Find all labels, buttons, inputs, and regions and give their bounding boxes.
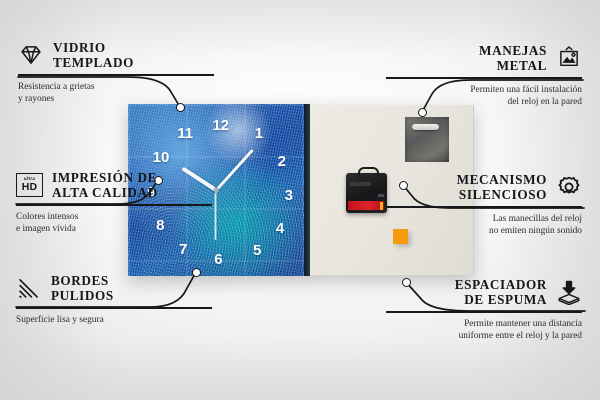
feature-divider [386, 311, 582, 313]
clock-numeral-12: 12 [212, 118, 229, 133]
feature-title: BORDES PULIDOS [51, 273, 114, 303]
feature-espaciador-de-espuma: ESPACIADOR DE ESPUMA Permite mantener un… [386, 277, 582, 342]
diamond-icon [18, 42, 44, 68]
feature-desc-line1: Resistencia a grietas [18, 81, 214, 93]
ultra-hd-icon-main-text: HD [22, 182, 38, 193]
picture-hanger-icon [556, 45, 582, 71]
feature-header: ultra HD IMPRESIÓN DE ALTA CALIDAD [16, 170, 212, 200]
feature-desc-line2: no emiten ningún sonido [386, 225, 582, 237]
feature-divider [386, 206, 582, 208]
clock-numeral-10: 10 [153, 150, 170, 165]
feature-desc-line2: y rayones [18, 93, 214, 105]
feature-header: VIDRIO TEMPLADO [18, 40, 214, 70]
feature-divider [16, 204, 212, 206]
feature-desc-line1: Permite mantener una distancia [386, 318, 582, 330]
feature-desc-line1: Superficie lisa y segura [16, 314, 212, 326]
mechanism-detail-secondary [378, 194, 384, 197]
hanger-slot [412, 124, 438, 130]
foam-spacer-icon [556, 279, 582, 305]
feature-title: IMPRESIÓN DE ALTA CALIDAD [52, 170, 158, 200]
feature-header: BORDES PULIDOS [16, 273, 212, 303]
feature-title: ESPACIADOR DE ESPUMA [455, 277, 547, 307]
polished-edges-icon [16, 275, 42, 301]
mechanism-hanging-loop [358, 167, 378, 176]
feature-manejas-metal: MANEJAS METAL Permiten una fácil instala… [386, 43, 582, 108]
feature-desc-line2: uniforme entre el reloj y la pared [386, 330, 582, 342]
mechanism-detail [350, 182, 371, 186]
mechanism-label-mark [380, 202, 383, 210]
feature-impresion-alta-calidad: ultra HD IMPRESIÓN DE ALTA CALIDAD Color… [16, 170, 212, 235]
feature-divider [18, 74, 214, 76]
feature-desc-line1: Las manecillas del reloj [386, 213, 582, 225]
feature-desc-line1: Colores intensos [16, 211, 212, 223]
feature-header: MECANISMO SILENCIOSO [386, 172, 582, 202]
feature-mecanismo-silencioso: MECANISMO SILENCIOSO Las manecillas del … [386, 172, 582, 237]
feature-desc-line2: e imagen vívida [16, 223, 212, 235]
feature-divider [16, 307, 212, 309]
feature-title: MECANISMO SILENCIOSO [457, 172, 547, 202]
clock-mechanism [346, 173, 387, 213]
clock-numeral-1: 1 [255, 126, 263, 141]
feature-header: MANEJAS METAL [386, 43, 582, 73]
clock-center-cap [214, 188, 219, 193]
clock-numeral-6: 6 [214, 252, 222, 267]
feature-divider [386, 77, 582, 79]
mechanism-label [348, 201, 384, 210]
clock-numeral-3: 3 [285, 188, 293, 203]
metal-hanger-plate [405, 117, 449, 162]
feature-vidrio-templado: VIDRIO TEMPLADO Resistencia a grietas y … [18, 40, 214, 105]
feature-desc-line1: Permiten una fácil instalación [386, 84, 582, 96]
clock-numeral-7: 7 [179, 242, 187, 257]
clock-numeral-11: 11 [177, 126, 193, 141]
ultra-hd-icon: ultra HD [16, 173, 43, 197]
clock-numeral-2: 2 [278, 154, 286, 169]
product-infographic: 12 1 2 3 4 5 6 7 8 9 10 11 [0, 0, 600, 400]
feature-title: MANEJAS METAL [479, 43, 547, 73]
feature-header: ESPACIADOR DE ESPUMA [386, 277, 582, 307]
gear-icon [556, 174, 582, 200]
clock-numeral-4: 4 [276, 221, 284, 236]
feature-bordes-pulidos: BORDES PULIDOS Superficie lisa y segura [16, 273, 212, 326]
connector-dot-manejas-metal [418, 108, 427, 117]
feature-desc-line2: del reloj en la pared [386, 96, 582, 108]
feature-title: VIDRIO TEMPLADO [53, 40, 134, 70]
clock-numeral-5: 5 [253, 243, 261, 258]
